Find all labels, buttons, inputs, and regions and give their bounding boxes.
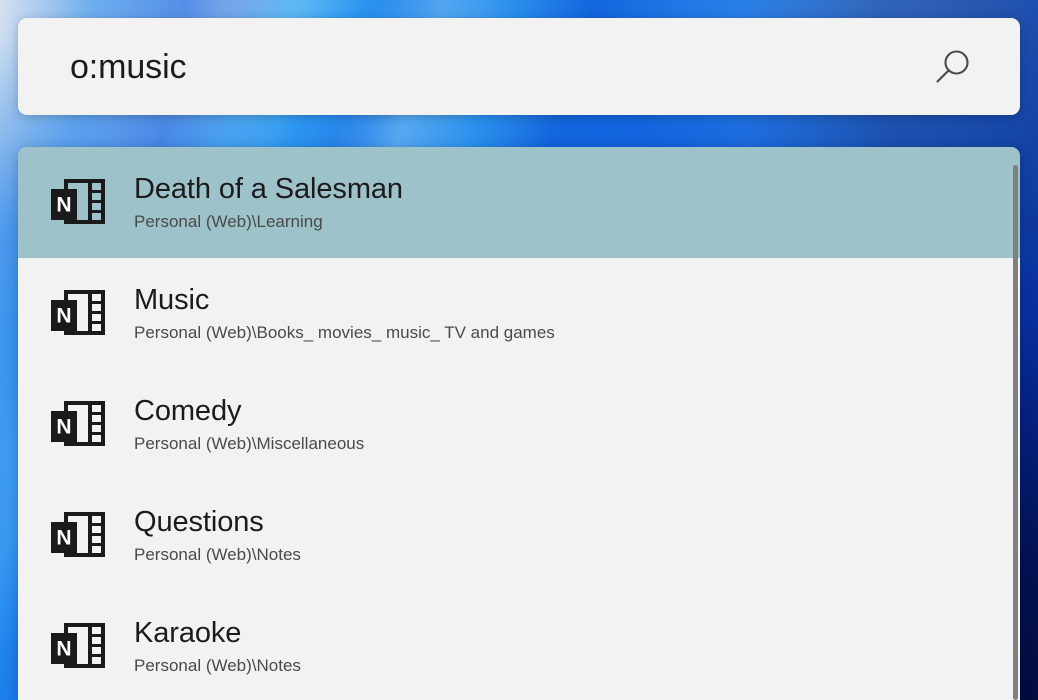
onenote-icon: N xyxy=(48,619,114,675)
search-result-title: Death of a Salesman xyxy=(134,173,1020,205)
search-result-item[interactable]: N Death of a Salesman Personal (Web)\Lea… xyxy=(18,147,1020,258)
search-result-title: Music xyxy=(134,284,1020,316)
onenote-icon: N xyxy=(48,397,114,453)
svg-text:N: N xyxy=(56,526,71,549)
search-bar[interactable]: o:music xyxy=(18,18,1020,115)
search-result-text-group: Death of a Salesman Personal (Web)\Learn… xyxy=(114,173,1020,232)
search-result-text-group: Questions Personal (Web)\Notes xyxy=(114,506,1020,565)
svg-text:N: N xyxy=(56,415,71,438)
desktop-wallpaper: o:music N xyxy=(0,0,1038,700)
svg-text:N: N xyxy=(56,637,71,660)
svg-text:N: N xyxy=(56,304,71,327)
search-result-text-group: Music Personal (Web)\Books_ movies_ musi… xyxy=(114,284,1020,343)
search-result-title: Karaoke xyxy=(134,617,1020,649)
onenote-icon: N xyxy=(48,508,114,564)
search-result-subtitle: Personal (Web)\Miscellaneous xyxy=(134,433,1020,454)
search-result-item[interactable]: N Questions Personal (Web)\Notes xyxy=(18,480,1020,591)
search-result-subtitle: Personal (Web)\Notes xyxy=(134,544,1020,565)
search-result-title: Questions xyxy=(134,506,1020,538)
search-result-item[interactable]: N Music Personal (Web)\Books_ movies_ mu… xyxy=(18,258,1020,369)
results-scrollbar-thumb[interactable] xyxy=(1013,165,1018,700)
search-result-item[interactable]: N Comedy Personal (Web)\Miscellaneous xyxy=(18,369,1020,480)
search-result-subtitle: Personal (Web)\Books_ movies_ music_ TV … xyxy=(134,322,1020,343)
onenote-icon: N xyxy=(48,175,114,231)
search-result-text-group: Karaoke Personal (Web)\Notes xyxy=(114,617,1020,676)
onenote-icon: N xyxy=(48,286,114,342)
search-result-subtitle: Personal (Web)\Learning xyxy=(134,211,1020,232)
search-result-subtitle: Personal (Web)\Notes xyxy=(134,655,1020,676)
results-scrollbar[interactable] xyxy=(1013,165,1018,700)
search-input[interactable]: o:music xyxy=(70,50,926,84)
search-icon[interactable] xyxy=(926,41,978,93)
search-result-item[interactable]: N Karaoke Personal (Web)\Notes xyxy=(18,591,1020,700)
svg-text:N: N xyxy=(56,193,71,216)
search-results-panel: N Death of a Salesman Personal (Web)\Lea… xyxy=(18,147,1020,700)
search-result-title: Comedy xyxy=(134,395,1020,427)
search-result-text-group: Comedy Personal (Web)\Miscellaneous xyxy=(114,395,1020,454)
search-results-list: N Death of a Salesman Personal (Web)\Lea… xyxy=(18,147,1020,700)
